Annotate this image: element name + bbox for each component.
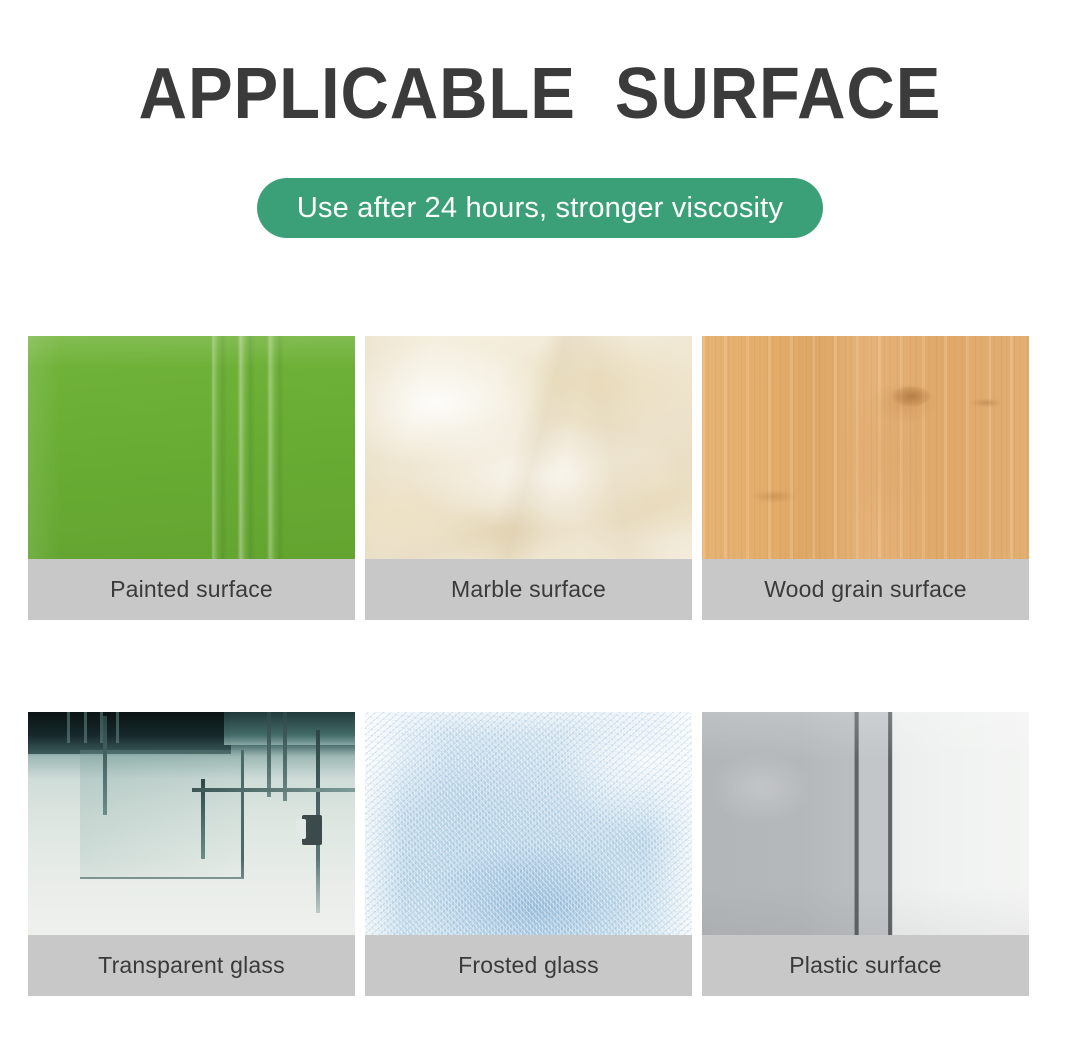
frosted-glass-image — [365, 712, 692, 935]
surface-caption: Plastic surface — [702, 935, 1029, 996]
ceiling-slat — [116, 712, 119, 743]
ceiling-shadow-right — [224, 712, 355, 745]
surface-row-2: Transparent glass Frosted glass Plastic … — [28, 712, 1052, 996]
door-handle-plate — [296, 819, 306, 839]
surface-grid: Painted surface Marble surface Wood grai… — [28, 336, 1052, 996]
ceiling-slat — [67, 712, 70, 743]
surface-card-painted[interactable]: Painted surface — [28, 336, 355, 620]
surface-row-1: Painted surface Marble surface Wood grai… — [28, 336, 1052, 620]
floor-reflection — [28, 859, 355, 935]
surface-card-wood-grain[interactable]: Wood grain surface — [702, 336, 1029, 620]
transparent-glass-image — [28, 712, 355, 935]
surface-caption: Painted surface — [28, 559, 355, 620]
frost-edge-highlight — [365, 712, 692, 935]
painted-surface-image — [28, 336, 355, 559]
page-title: APPLICABLE SURFACE — [38, 56, 1042, 132]
surface-card-frosted-glass[interactable]: Frosted glass — [365, 712, 692, 996]
ceiling-slat — [84, 712, 87, 743]
surface-caption: Transparent glass — [28, 935, 355, 996]
glass-mullion — [267, 712, 271, 797]
surface-card-plastic[interactable]: Plastic surface — [702, 712, 1029, 996]
infographic-page: APPLICABLE SURFACE Use after 24 hours, s… — [0, 0, 1080, 1059]
badge-container: Use after 24 hours, stronger viscosity — [0, 178, 1080, 238]
plastic-surface-image — [702, 712, 1029, 935]
marble-surface-image — [365, 336, 692, 559]
surface-caption: Frosted glass — [365, 935, 692, 996]
glass-rail — [192, 788, 356, 792]
viscosity-badge: Use after 24 hours, stronger viscosity — [257, 178, 823, 238]
wood-grain-surface-image — [702, 336, 1029, 559]
surface-card-transparent-glass[interactable]: Transparent glass — [28, 712, 355, 996]
surface-caption: Marble surface — [365, 559, 692, 620]
surface-caption: Wood grain surface — [702, 559, 1029, 620]
ceiling-shadow — [28, 712, 231, 754]
glass-mullion — [103, 716, 107, 814]
surface-card-marble[interactable]: Marble surface — [365, 336, 692, 620]
